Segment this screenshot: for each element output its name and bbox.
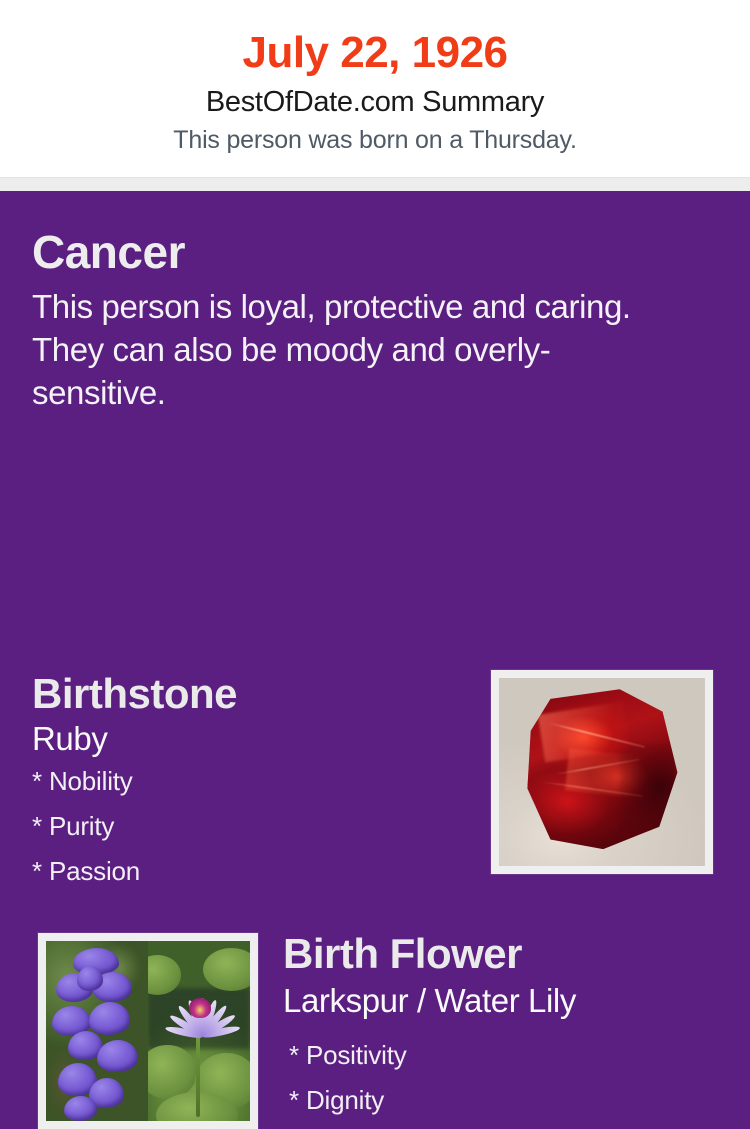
header-divider (0, 177, 750, 191)
born-day-text: This person was born on a Thursday. (0, 123, 750, 157)
birthstone-heading: Birthstone (32, 669, 237, 719)
larkspur-petal (77, 966, 104, 991)
zodiac-sign-name: Cancer (32, 191, 750, 279)
birthstone-trait: * Nobility (32, 759, 237, 804)
site-subtitle: BestOfDate.com Summary (0, 82, 750, 122)
page-title: July 22, 1926 (0, 26, 750, 80)
larkspur-waterlily-photo (46, 941, 250, 1121)
water-lily-bloom (166, 966, 233, 1045)
ruby-shadow (620, 744, 676, 830)
birthstone-section: Birthstone Ruby * Nobility * Purity * Pa… (32, 669, 237, 894)
lily-stem (196, 1035, 200, 1118)
summary-card: July 22, 1926 BestOfDate.com Summary Thi… (0, 0, 750, 1000)
zodiac-description: This person is loyal, protective and car… (32, 285, 657, 414)
birth-flower-traits: * Positivity * Dignity (289, 1033, 576, 1123)
birth-flower-section: Birth Flower Larkspur / Water Lily * Pos… (283, 929, 576, 1123)
birthstone-name: Ruby (32, 719, 237, 759)
card-header: July 22, 1926 BestOfDate.com Summary Thi… (0, 0, 750, 177)
birth-flower-trait: * Dignity (289, 1078, 576, 1123)
zodiac-section: Cancer This person is loyal, protective … (32, 191, 750, 414)
birthstone-trait: * Purity (32, 804, 237, 849)
larkspur-petal (89, 1002, 130, 1034)
birth-flower-image-frame (38, 933, 258, 1129)
water-lily-photo-half (148, 941, 250, 1121)
larkspur-petal (64, 1096, 97, 1121)
larkspur-petal (97, 1040, 138, 1072)
details-panel: Cancer This person is loyal, protective … (0, 191, 750, 1000)
birth-flower-name: Larkspur / Water Lily (283, 981, 576, 1021)
ruby-crystal-photo (499, 678, 705, 866)
birthstone-image-frame (491, 670, 713, 874)
birth-flower-heading: Birth Flower (283, 929, 576, 979)
lily-stamen-center (189, 998, 212, 1019)
ruby-gem-shape (518, 689, 683, 849)
birthstone-trait: * Passion (32, 849, 237, 894)
birth-flower-trait: * Positivity (289, 1033, 576, 1078)
larkspur-photo-half (46, 941, 148, 1121)
